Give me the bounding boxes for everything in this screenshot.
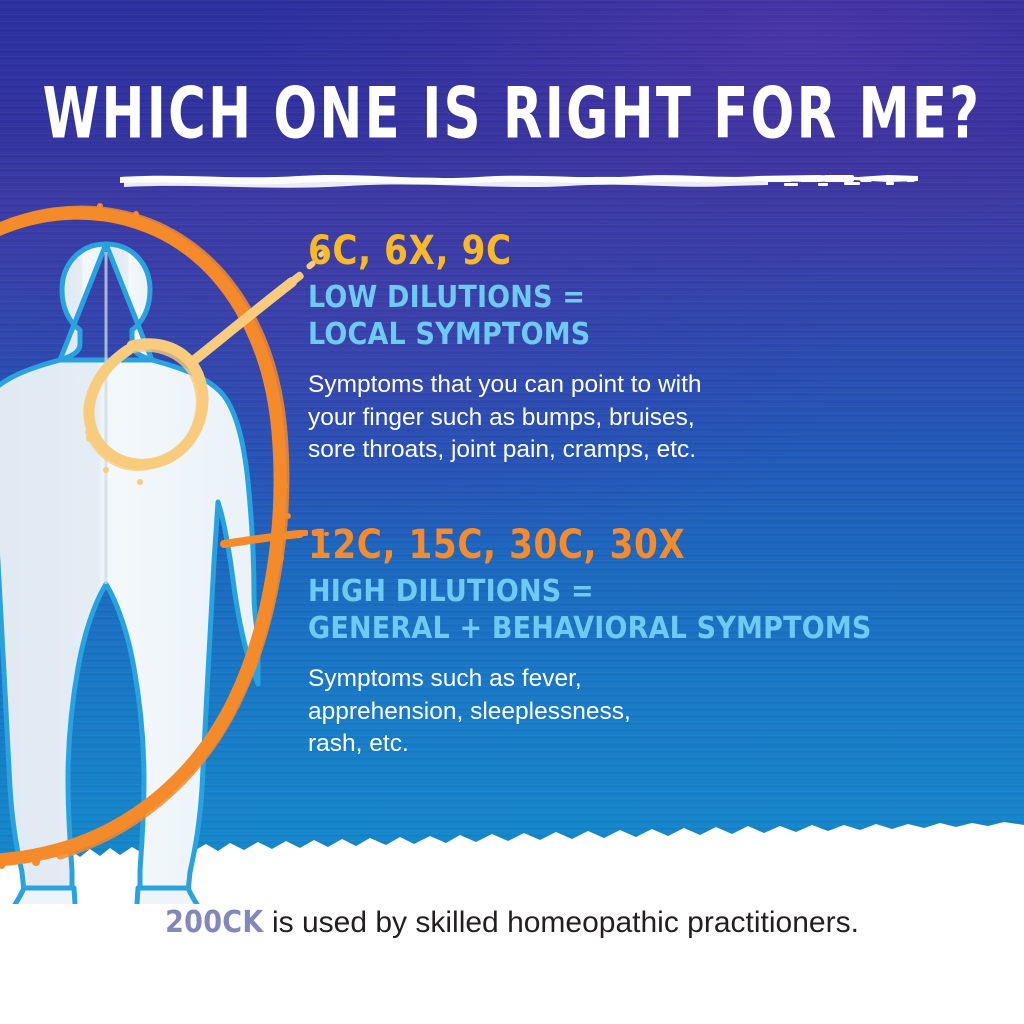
dilution-block-low: 6C, 6X, 9C LOW DILUTIONS = LOCAL SYMPTOM…: [308, 230, 980, 466]
description-high-line3: rash, etc.: [308, 728, 980, 760]
ragged-paint-edge-icon: [0, 820, 1024, 876]
subheading-low: LOW DILUTIONS = LOCAL SYMPTOMS: [308, 280, 980, 353]
description-high-line1: Symptoms such as fever,: [308, 663, 980, 695]
footer-note-text: is used by skilled homeopathic practitio…: [264, 906, 859, 939]
dose-label-low: 6C, 6X, 9C: [308, 230, 980, 270]
description-low: Symptoms that you can point to with your…: [308, 369, 980, 466]
subheading-high-line2: GENERAL + BEHAVIORAL SYMPTOMS: [308, 611, 980, 648]
subheading-low-line1: LOW DILUTIONS =: [308, 280, 585, 315]
infographic-canvas: WHICH ONE IS RIGHT FOR ME?: [0, 0, 1024, 1024]
footer-dose-highlight: 200CK: [165, 905, 264, 940]
description-low-line3: sore throats, joint pain, cramps, etc.: [308, 434, 980, 466]
dose-label-high: 12C, 15C, 30C, 30X: [308, 524, 980, 564]
subheading-high-line1: HIGH DILUTIONS =: [308, 574, 594, 609]
description-high: Symptoms such as fever, apprehension, sl…: [308, 663, 980, 760]
subheading-high: HIGH DILUTIONS = GENERAL + BEHAVIORAL SY…: [308, 574, 980, 647]
description-high-line2: apprehension, sleeplessness,: [308, 696, 980, 728]
content-column: 6C, 6X, 9C LOW DILUTIONS = LOCAL SYMPTOM…: [308, 230, 980, 760]
page-title: WHICH ONE IS RIGHT FOR ME?: [41, 78, 983, 149]
description-low-line2: your finger such as bumps, bruises,: [308, 402, 980, 434]
footer-note: 200CK is used by skilled homeopathic pra…: [0, 905, 1024, 940]
description-low-line1: Symptoms that you can point to with: [308, 369, 980, 401]
subheading-low-line2: LOCAL SYMPTOMS: [308, 317, 980, 354]
dilution-block-high: 12C, 15C, 30C, 30X HIGH DILUTIONS = GENE…: [308, 524, 980, 760]
